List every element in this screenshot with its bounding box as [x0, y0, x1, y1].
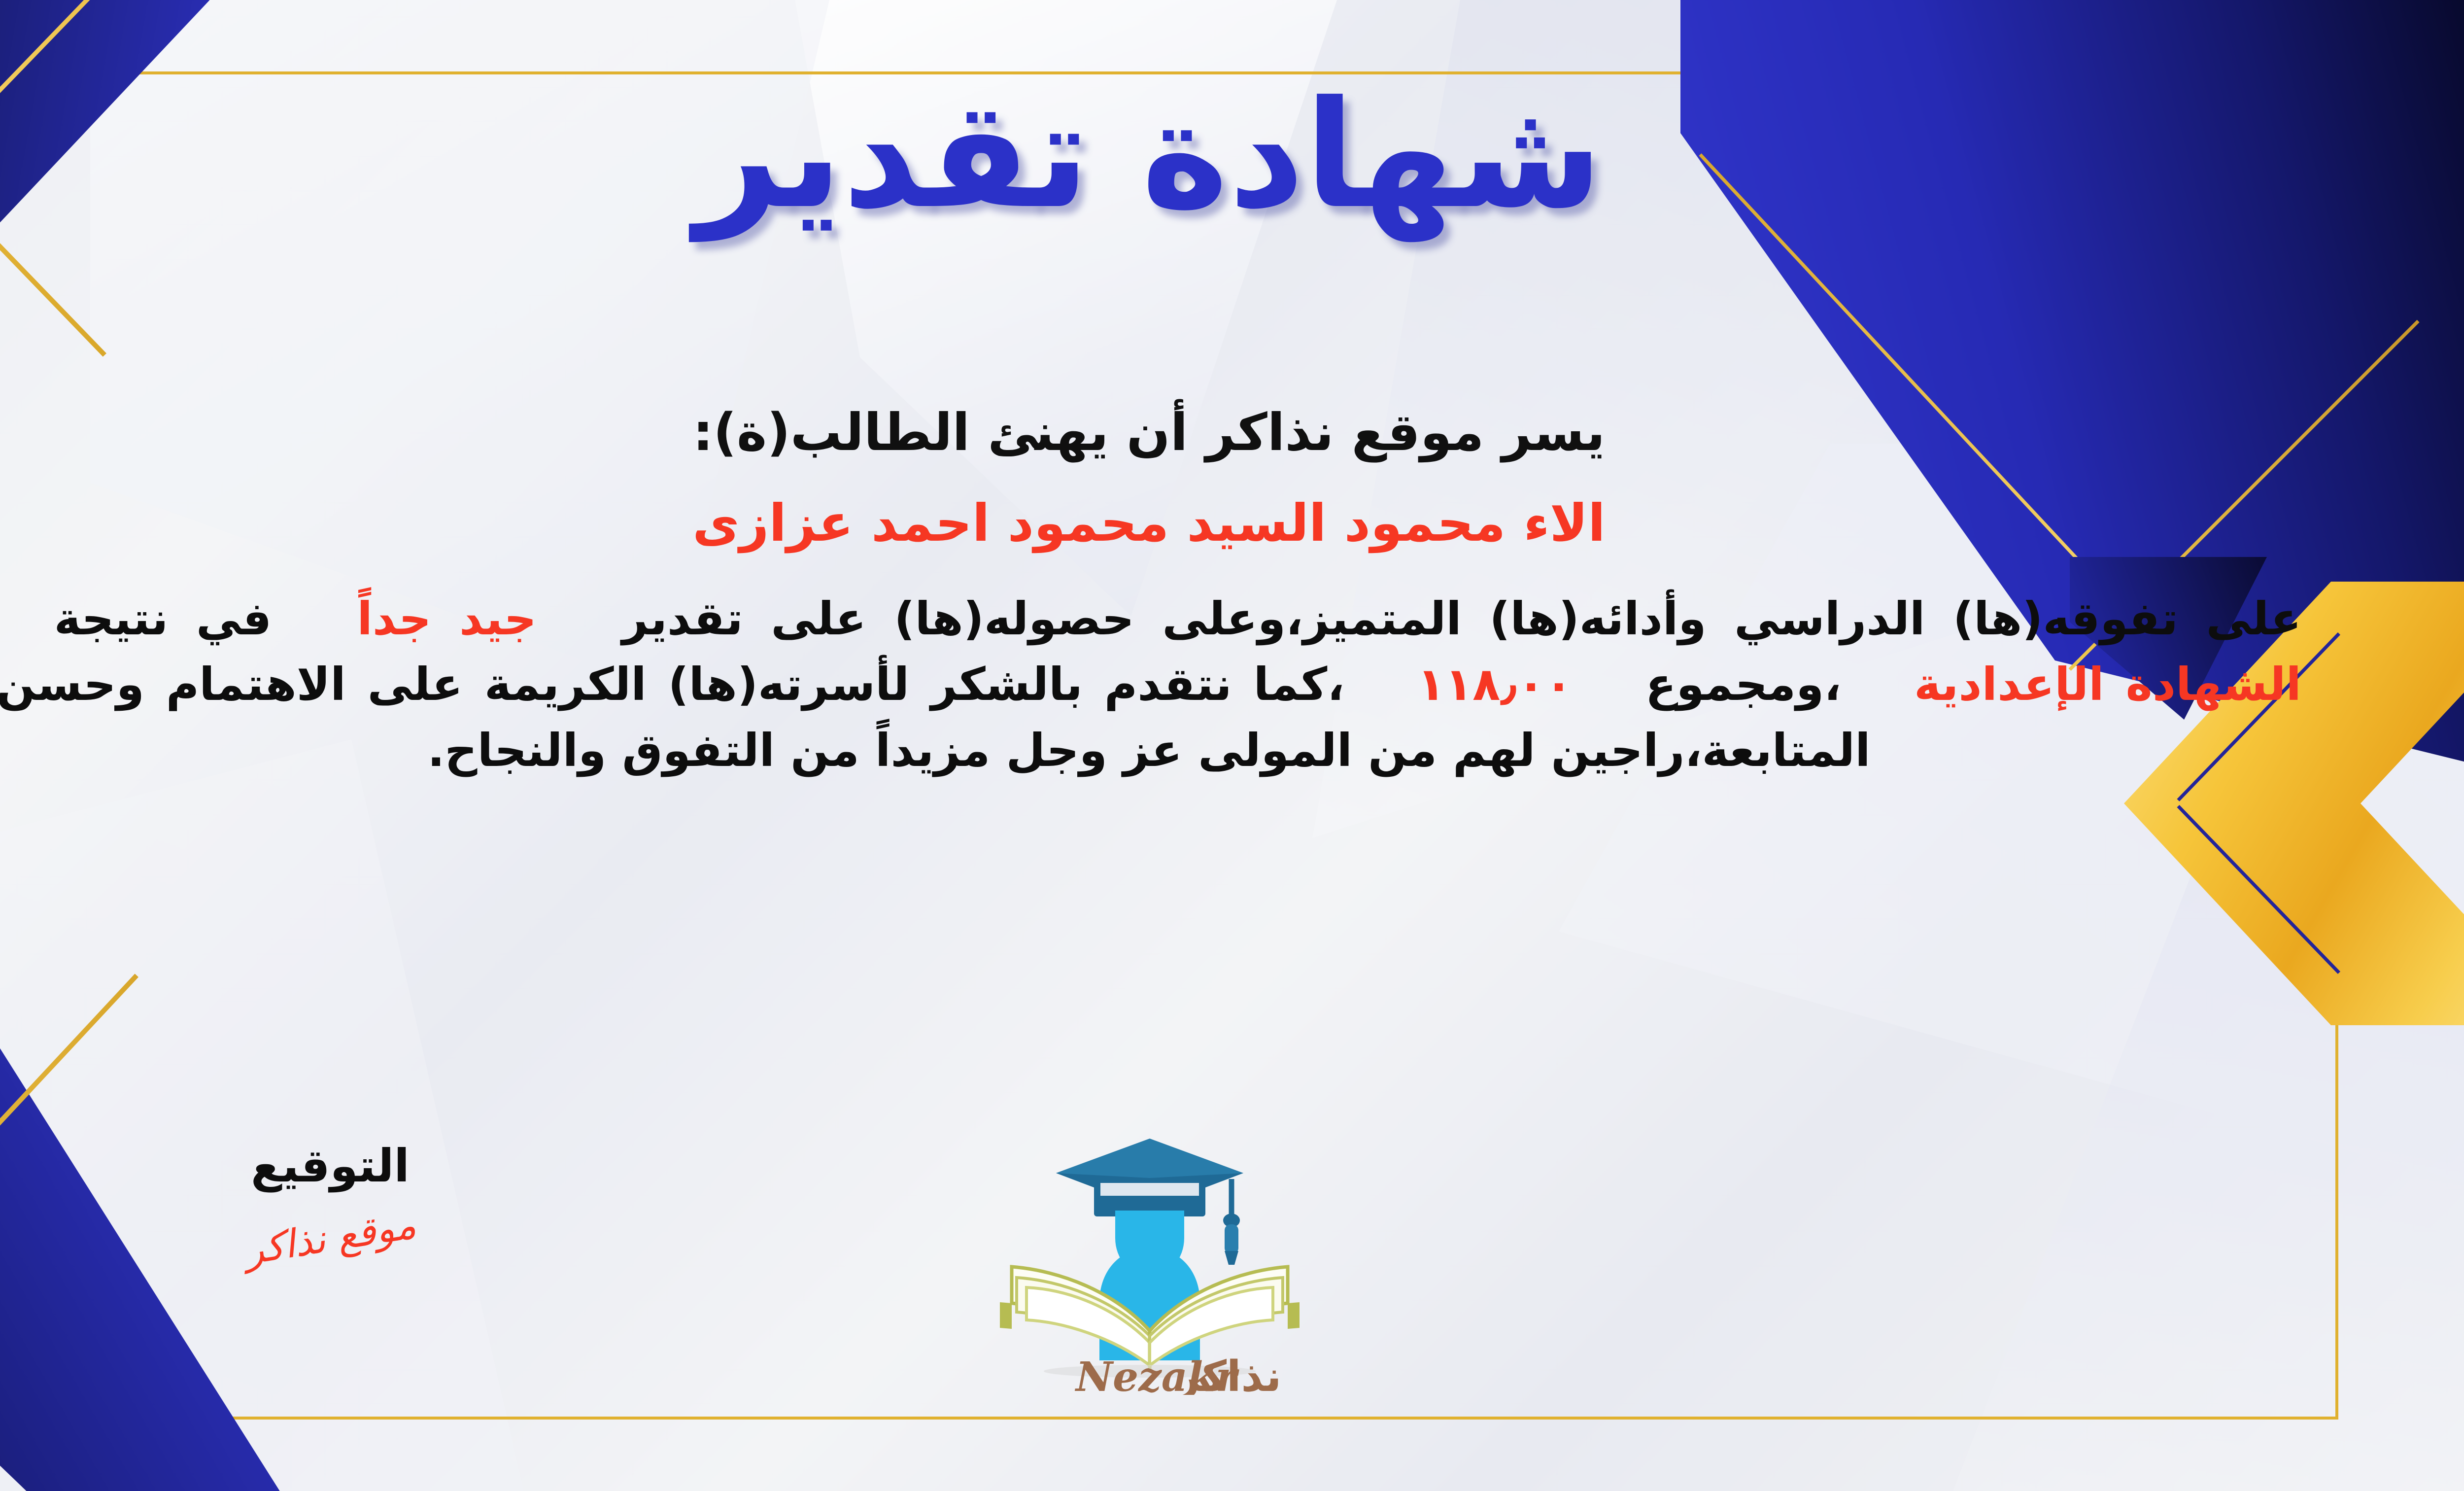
certificate-body: يسر موقع نذاكر أن يهنئ الطالب(ة): الاء م…	[0, 404, 2301, 783]
citation-part-4: ،كما نتقدم بالشكر لأسرته(ها) الكريمة على…	[0, 658, 1871, 776]
total-score: ١١٨٫٠٠	[1417, 658, 1573, 711]
exam-name: الشهادة الإعدادية	[1914, 658, 2301, 711]
signature-label: التوقيع	[108, 1144, 552, 1189]
lead-line: يسر موقع نذاكر أن يهنئ الطالب(ة):	[0, 404, 2301, 460]
certificate-title: شهادة تقدير	[0, 81, 2464, 229]
certificate-canvas: شهادة تقدير يسر موقع نذاكر أن يهنئ الطال…	[0, 0, 2464, 1491]
nezakr-logo: Nezakr نذاكر	[953, 1119, 1347, 1395]
citation-part-3: ،ومجموع	[1645, 658, 1842, 711]
student-name: الاء محمود السيد محمود احمد عزازى	[0, 495, 2301, 551]
citation-paragraph: على تفوقه(ها) الدراسي وأدائه(ها) المتميز…	[0, 586, 2301, 783]
citation-part-1: على تفوقه(ها) الدراسي وأدائه(ها) المتميز…	[622, 592, 2301, 645]
citation-part-2: في نتيجة	[54, 592, 272, 645]
signature-block: التوقيع موقع نذاكر	[108, 1144, 552, 1260]
logo-arabic-text: نذاكر	[1174, 1352, 1282, 1395]
grade-value: جيد جداً	[357, 592, 537, 645]
